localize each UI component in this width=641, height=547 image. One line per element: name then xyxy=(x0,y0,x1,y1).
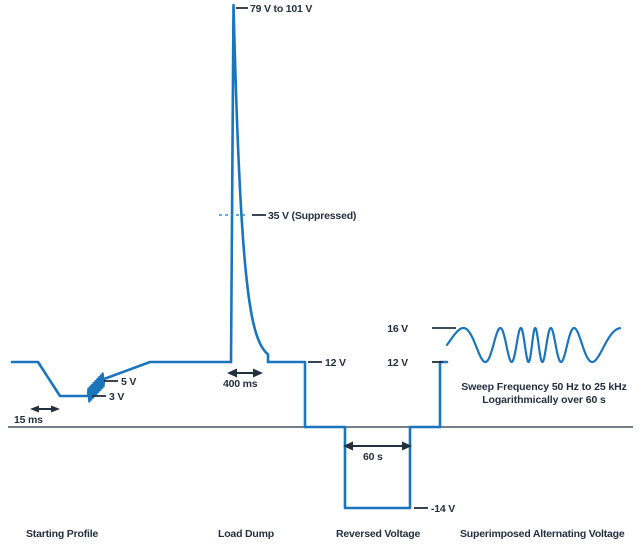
phase-label-starting-profile: Starting Profile xyxy=(26,528,98,540)
reverse-label: -14 V xyxy=(431,503,455,515)
starting-profile-waveform xyxy=(12,362,88,396)
ripple-segment xyxy=(88,373,104,401)
phase-label-reversed-voltage: Reversed Voltage xyxy=(336,528,421,540)
alternating-voltage-sweep xyxy=(447,328,620,362)
dump-time-label: 400 ms xyxy=(223,378,258,390)
crank-time-label: 15 ms xyxy=(14,414,43,426)
sweep-frequency-line2: Logarithmically over 60 s xyxy=(482,394,606,406)
load-dump-duration-dimension xyxy=(227,369,263,378)
sweep-frequency-line1: Sweep Frequency 50 Hz to 25 kHz xyxy=(461,381,627,393)
ac-low-label: 12 V xyxy=(387,357,408,369)
ripple-label: 5 V xyxy=(121,376,136,388)
load-dump-pulse xyxy=(231,5,268,362)
reverse-duration-dimension xyxy=(343,442,412,451)
phase-label-superimposed-alternating-voltage: Superimposed Alternating Voltage xyxy=(460,528,625,540)
nominal-label: 12 V xyxy=(325,357,346,369)
dip-label: 3 V xyxy=(109,391,124,403)
ac-high-label: 16 V xyxy=(387,323,408,335)
peak-label: 79 V to 101 V xyxy=(250,3,312,15)
phase-label-load-dump: Load Dump xyxy=(218,528,274,540)
reverse-time-label: 60 s xyxy=(363,451,383,463)
post-dump-plateau xyxy=(268,362,305,427)
suppressed-label: 35 V (Suppressed) xyxy=(268,210,356,222)
voltage-test-profile-diagram: 79 V to 101 V 35 V (Suppressed) 3 V 15 m… xyxy=(0,0,641,547)
ac-rise-edge xyxy=(440,362,447,427)
reversed-voltage-well xyxy=(305,427,440,508)
crank-duration-dimension xyxy=(30,406,60,413)
